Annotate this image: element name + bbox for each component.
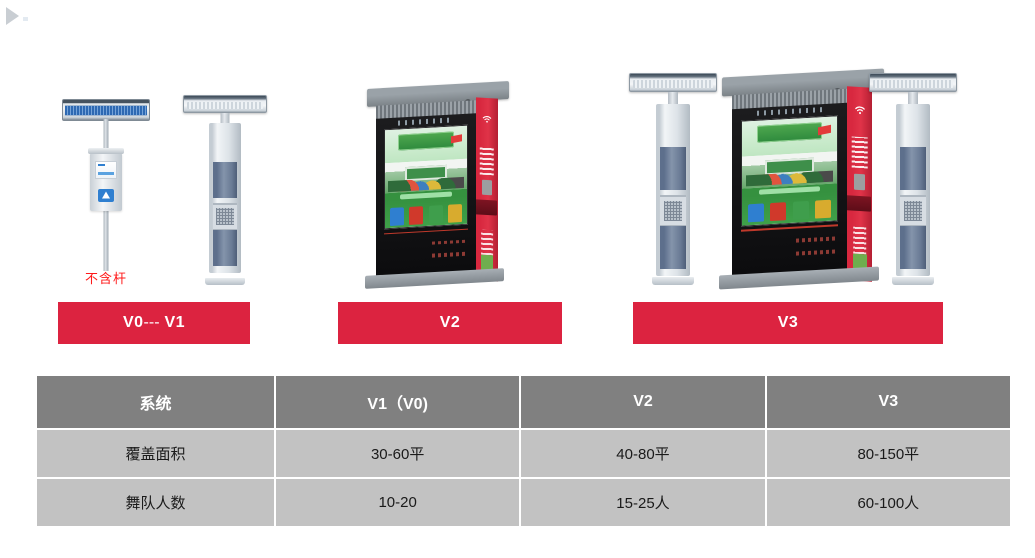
kiosk-led-strip (757, 107, 821, 116)
control-cabinet (90, 153, 122, 211)
column-base (652, 277, 694, 285)
cabinet-cap (88, 148, 124, 154)
caption-no-pole: 不含杆 (85, 268, 127, 287)
bin-yellow-icon (815, 199, 831, 218)
kiosk-front-cabinet (732, 103, 847, 276)
screen-bins-row (390, 200, 462, 226)
product-group-v2 (338, 40, 562, 285)
column-body (656, 104, 690, 276)
bin-green-icon (429, 206, 443, 224)
banner-v2-label: V2 (440, 314, 461, 332)
kiosk-lower-text-1 (432, 239, 466, 244)
screen-poster-title (757, 122, 821, 142)
side-panel-vertical-text-2 (481, 229, 493, 255)
header-system: 系统 (37, 376, 274, 428)
bin-red-icon (409, 207, 423, 225)
speaker-grille (213, 203, 237, 231)
banner-v0-v1: V0--- V1 (58, 302, 250, 344)
banner-v3-label: V3 (778, 314, 799, 332)
table-row: 覆盖面积 30-60平 40-80平 80-150平 (37, 430, 1010, 477)
column-unit-v3-left (620, 73, 726, 285)
kiosk-front-cabinet (376, 113, 476, 276)
banner-v1-label: V1 (164, 314, 185, 332)
table-row: 舞队人数 10-20 15-25人 60-100人 (37, 479, 1010, 526)
bin-yellow-icon (448, 204, 462, 222)
bin-blue-icon (748, 203, 764, 222)
product-gallery: 不含杆 (0, 40, 1035, 285)
table-header-row: 系统 V1（V0) V2 V3 (37, 376, 1010, 428)
column-unit-v3-right (860, 73, 966, 285)
side-panel-vertical-text (480, 145, 494, 175)
screen-recycling-bins-section (385, 189, 467, 229)
screen-poster-title (398, 132, 454, 151)
column-body (896, 104, 930, 276)
screen-top-poster (742, 116, 836, 157)
row-label-coverage: 覆盖面积 (37, 430, 274, 477)
table-head: 系统 V1（V0) V2 V3 (37, 376, 1010, 428)
screen-mid-scene (742, 151, 836, 188)
banner-v0-label: V0 (123, 314, 144, 332)
cell-team-size-v2: 15-25人 (521, 479, 764, 526)
header-v3: V3 (767, 376, 1010, 428)
side-panel-keypad[interactable] (482, 180, 492, 195)
wifi-icon (481, 112, 493, 125)
column-panel-lower (213, 230, 238, 266)
cabinet-badge-icon (98, 189, 113, 202)
product-group-v0-v1: 不含杆 (40, 40, 290, 285)
kiosk-unit-v3 (732, 73, 872, 285)
play-triangle-icon (6, 7, 19, 25)
play-marker-tick (23, 17, 28, 21)
column-body (209, 123, 241, 273)
screen-top-poster (385, 126, 467, 164)
cabinet-display (95, 161, 117, 178)
bin-blue-icon (390, 208, 404, 226)
banner-v3: V3 (633, 302, 943, 344)
speaker-array-icon (62, 99, 150, 121)
bin-red-icon (770, 202, 786, 221)
light-bar-icon (869, 73, 957, 92)
screen-flag-graphic (818, 124, 831, 134)
column-panel-upper (213, 162, 238, 198)
column-panel-lower (660, 226, 687, 269)
screen-bins-row (748, 194, 831, 222)
bin-green-icon (793, 201, 809, 220)
cell-team-size-v1: 10-20 (276, 479, 519, 526)
column-panel-lower (900, 226, 927, 269)
speaker-grille (660, 195, 685, 227)
product-group-v3 (620, 40, 960, 285)
light-bar-louvers (633, 80, 713, 88)
header-v2: V2 (521, 376, 764, 428)
kiosk-lower-text-2 (796, 250, 835, 256)
kiosk-unit-v2 (376, 85, 498, 285)
kiosk-lower-text-2 (432, 252, 466, 257)
kiosk-display-screen (741, 115, 837, 227)
column-base (205, 278, 245, 285)
column-panel-upper (900, 147, 927, 190)
light-bar-icon (183, 95, 267, 113)
screen-bins-caption (759, 186, 819, 195)
screen-bins-caption (400, 192, 453, 200)
light-bar-louvers (873, 80, 953, 88)
cell-team-size-v3: 60-100人 (767, 479, 1010, 526)
banner-dashes: --- (144, 314, 160, 332)
speaker-louvers (65, 105, 147, 116)
banner-v2: V2 (338, 302, 562, 344)
header-v1: V1（V0) (276, 376, 519, 428)
cell-coverage-v3: 80-150平 (767, 430, 1010, 477)
light-bar-louvers (187, 102, 263, 109)
cell-coverage-v2: 40-80平 (521, 430, 764, 477)
side-panel-card-slot[interactable] (476, 200, 497, 216)
kiosk-led-strip (398, 118, 454, 126)
table-body: 覆盖面积 30-60平 40-80平 80-150平 舞队人数 10-20 15… (37, 430, 1010, 526)
screen-mid-scene (385, 159, 467, 193)
column-base (892, 277, 934, 285)
spec-comparison-table: 系统 V1（V0) V2 V3 覆盖面积 30-60平 40-80平 80-15… (35, 374, 1012, 528)
kiosk-red-divider (384, 228, 468, 235)
row-label-team-size: 舞队人数 (37, 479, 274, 526)
kiosk-lower-text-1 (796, 236, 835, 242)
speaker-grille (900, 195, 925, 227)
mast-unit-v0: 不含杆 (58, 85, 154, 285)
light-bar-icon (629, 73, 717, 92)
cell-coverage-v1: 30-60平 (276, 430, 519, 477)
column-unit-v1 (172, 85, 278, 285)
screen-flag-graphic (451, 134, 462, 144)
kiosk-red-side-panel (476, 97, 498, 281)
kiosk-display-screen (384, 125, 468, 230)
screen-recycling-bins-section (742, 183, 836, 226)
column-panel-upper (660, 147, 687, 190)
